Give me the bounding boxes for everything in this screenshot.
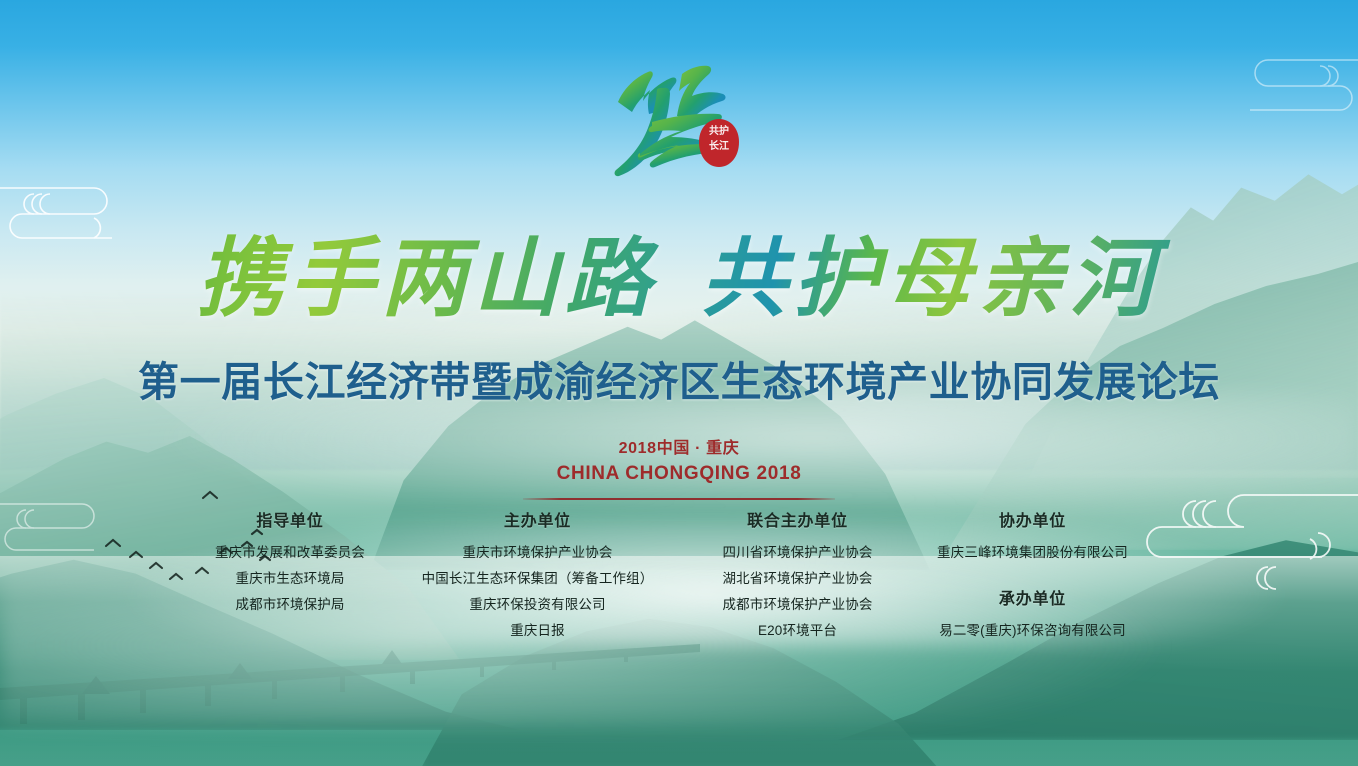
org-title: 协办单位 — [895, 512, 1170, 531]
org-item: 易二零(重庆)环保咨询有限公司 — [895, 618, 1170, 644]
org-item: 四川省环境保护产业协会 — [690, 540, 905, 566]
logo-block: 共护 长江 — [0, 52, 1358, 182]
org-title: 主办单位 — [400, 512, 675, 531]
title-main-right: 共护母亲河 — [701, 231, 1161, 327]
organizations-block: 指导单位 重庆市发展和改革委员会 重庆市生态环境局 成都市环境保护局 主办单位 … — [0, 512, 1358, 642]
org-item: 重庆市发展和改革委员会 — [175, 540, 405, 566]
seal-icon: 共护 长江 — [698, 118, 740, 168]
org-item: 中国长江生态环保集团（筹备工作组） — [400, 566, 675, 592]
svg-text:共护: 共护 — [709, 124, 729, 137]
org-column-support: 协办单位 重庆三峰环境集团股份有限公司 承办单位 易二零(重庆)环保咨询有限公司 — [895, 512, 1170, 644]
forum-poster: 共护 长江 携手两山路共护母亲河 第一届长江经济带暨成渝经济区生态环境产业协同发… — [0, 0, 1358, 766]
org-column-host: 主办单位 重庆市环境保护产业协会 中国长江生态环保集团（筹备工作组） 重庆环保投… — [400, 512, 675, 644]
org-item: 重庆市环境保护产业协会 — [400, 540, 675, 566]
divider — [523, 498, 835, 500]
date-location-block: 2018中国 · 重庆 CHINA CHONGQING 2018 — [0, 437, 1358, 500]
date-location-cn: 2018中国 · 重庆 — [0, 437, 1358, 460]
org-column-guidance: 指导单位 重庆市发展和改革委员会 重庆市生态环境局 成都市环境保护局 — [175, 512, 405, 618]
title-main-left: 携手两山路 — [197, 231, 657, 327]
org-title-secondary: 承办单位 — [895, 590, 1170, 609]
org-item: 重庆三峰环境集团股份有限公司 — [895, 540, 1170, 566]
org-title: 指导单位 — [175, 512, 405, 531]
org-item: 成都市环境保护局 — [175, 592, 405, 618]
page-title: 携手两山路共护母亲河 — [0, 208, 1358, 333]
svg-text:长江: 长江 — [709, 139, 729, 152]
org-item: 重庆环保投资有限公司 — [400, 592, 675, 618]
org-item: 成都市环境保护产业协会 — [690, 592, 905, 618]
org-item: 湖北省环境保护产业协会 — [690, 566, 905, 592]
page-subtitle: 第一届长江经济带暨成渝经济区生态环境产业协同发展论坛 — [0, 348, 1358, 408]
org-item: 重庆日报 — [400, 618, 675, 644]
org-column-co-host: 联合主办单位 四川省环境保护产业协会 湖北省环境保护产业协会 成都市环境保护产业… — [690, 512, 905, 644]
org-item: E20环境平台 — [690, 618, 905, 644]
org-item: 重庆市生态环境局 — [175, 566, 405, 592]
date-location-en: CHINA CHONGQING 2018 — [0, 460, 1358, 489]
org-title: 联合主办单位 — [690, 512, 905, 531]
